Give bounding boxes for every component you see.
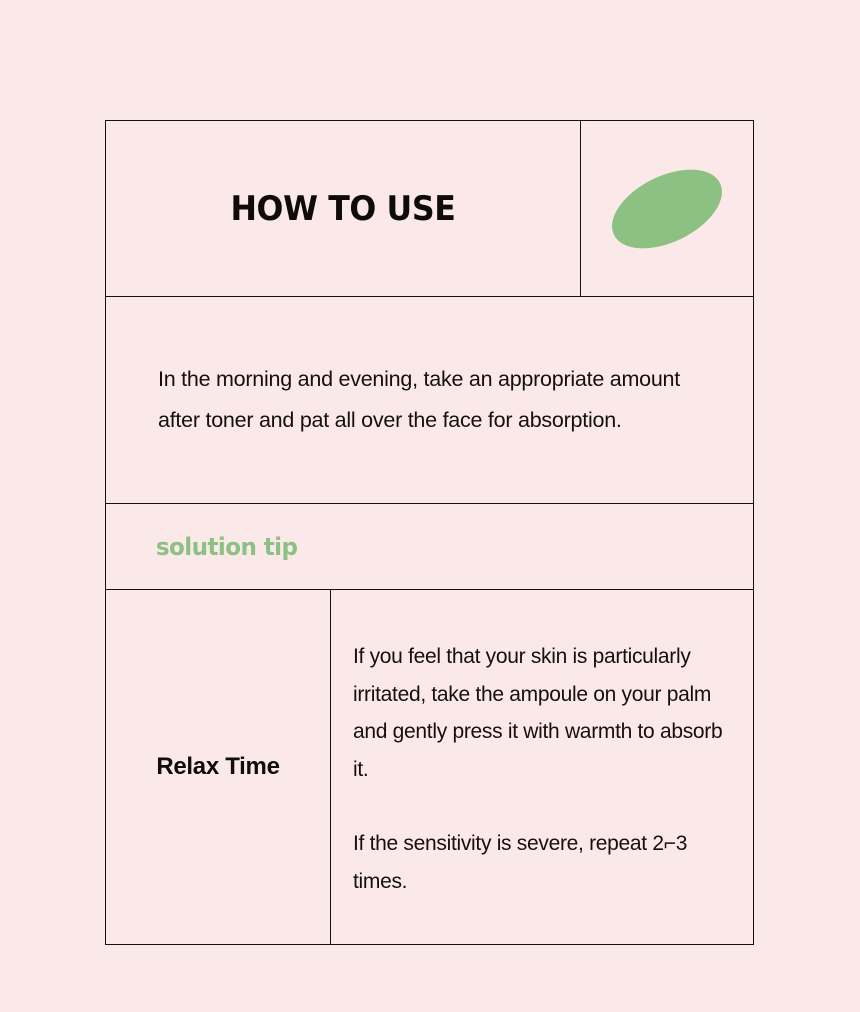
how-to-use-table: HOW TO USE In the morning and evening, t… xyxy=(105,120,754,945)
table-row-instruction: In the morning and evening, take an appr… xyxy=(106,297,753,504)
relax-time-label: Relax Time xyxy=(156,753,279,781)
header-title-cell: HOW TO USE xyxy=(106,121,581,296)
relax-time-body-cell: If you feel that your skin is particular… xyxy=(331,590,753,944)
green-ellipse-icon xyxy=(600,153,735,264)
page-title: HOW TO USE xyxy=(230,189,455,229)
relax-paragraph-1: If you feel that your skin is particular… xyxy=(353,638,735,788)
usage-instruction-card: HOW TO USE In the morning and evening, t… xyxy=(0,0,860,1012)
table-row-solution-tip: solution tip xyxy=(106,504,753,590)
table-row-relax-time: Relax Time If you feel that your skin is… xyxy=(106,590,753,944)
instruction-text: In the morning and evening, take an appr… xyxy=(106,359,753,441)
relax-paragraph-2: If the sensitivity is severe, repeat 2⌐3… xyxy=(353,825,735,900)
solution-tip-label: solution tip xyxy=(106,533,297,561)
header-decoration-cell xyxy=(581,121,753,296)
table-row-header: HOW TO USE xyxy=(106,121,753,297)
relax-time-label-cell: Relax Time xyxy=(106,590,331,944)
